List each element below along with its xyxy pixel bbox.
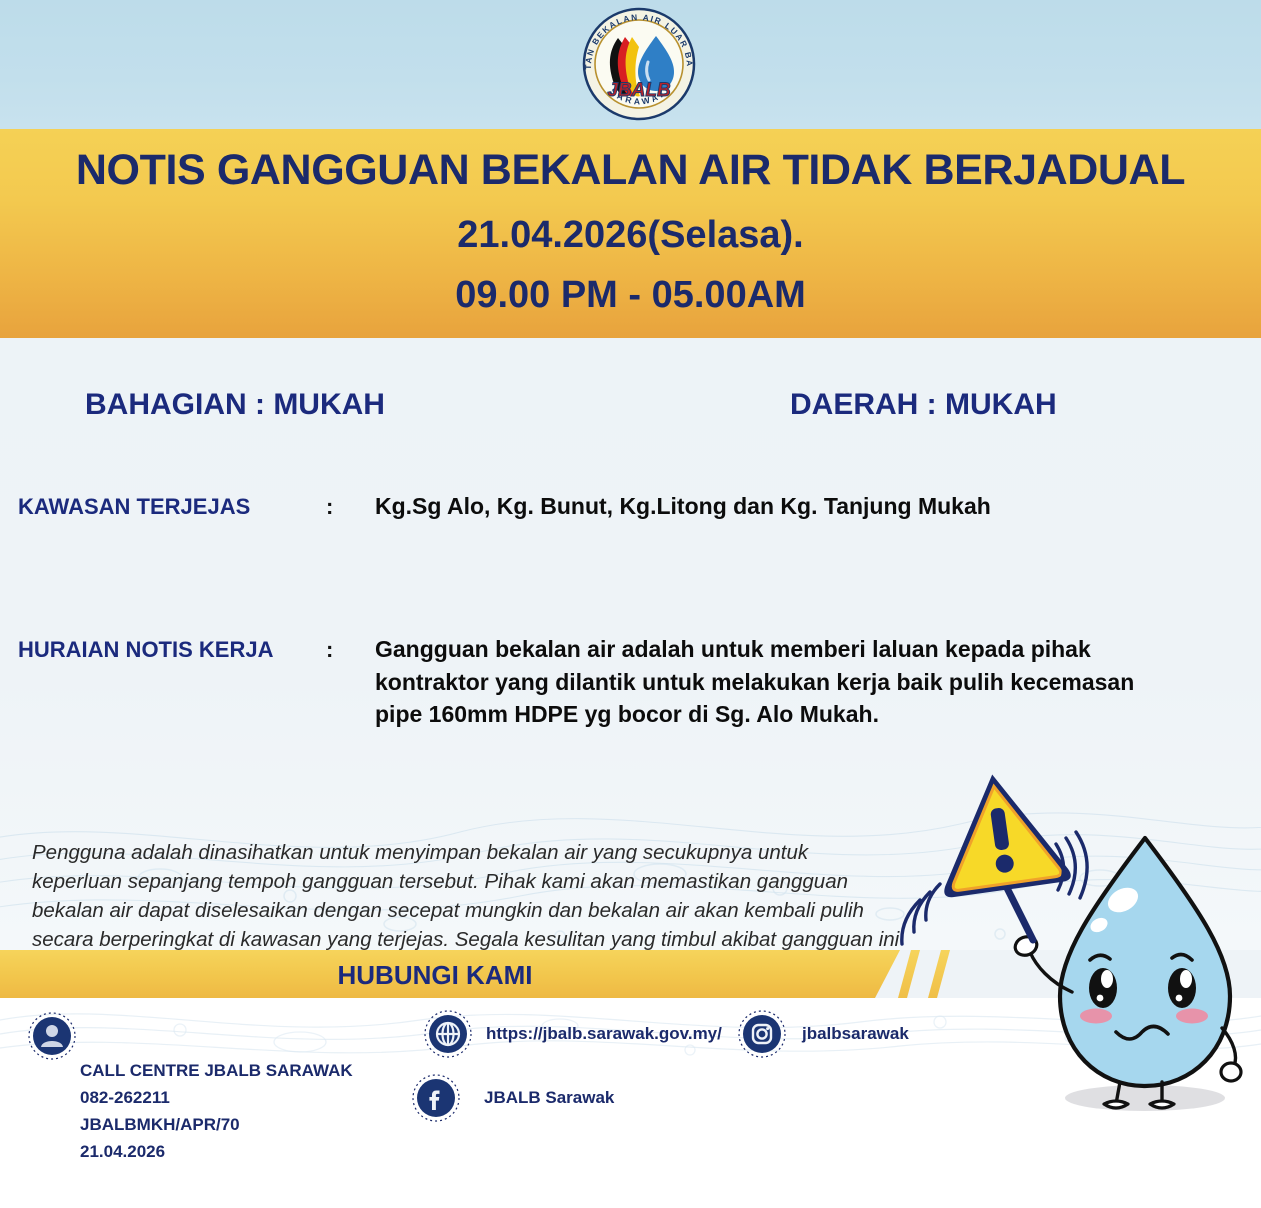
notice-reference: JBALBMKH/APR/70 xyxy=(80,1112,353,1139)
field-colon: : xyxy=(326,637,333,663)
instagram-icon xyxy=(738,1010,786,1058)
water-disruption-notice-poster: JABATAN BEKALAN AIR LUAR BANDAR SARAWAK … xyxy=(0,0,1261,1208)
call-centre-title: CALL CENTRE JBALB SARAWAK xyxy=(80,1058,353,1085)
contact-banner-title: HUBUNGI KAMI xyxy=(0,960,870,991)
contact-footer: CALL CENTRE JBALB SARAWAK 082-262211 JBA… xyxy=(0,998,1261,1208)
notice-issue-date: 21.04.2026 xyxy=(80,1139,353,1166)
notice-body: BAHAGIAN : MUKAH DAERAH : MUKAH KAWASAN … xyxy=(0,338,1261,950)
field-label: KAWASAN TERJEJAS xyxy=(18,494,250,520)
notice-title-line-1: NOTIS GANGGUAN BEKALAN AIR TIDAK BERJADU… xyxy=(0,129,1261,192)
advisory-paragraph: Pengguna adalah dinasihatkan untuk menyi… xyxy=(32,838,902,950)
contact-banner: HUBUNGI KAMI xyxy=(0,950,1261,998)
field-value: Kg.Sg Alo, Kg. Bunut, Kg.Litong dan Kg. … xyxy=(375,490,1165,523)
globe-icon xyxy=(424,1010,472,1058)
call-centre-details: CALL CENTRE JBALB SARAWAK 082-262211 JBA… xyxy=(80,1058,353,1165)
daerah-label: DAERAH : MUKAH xyxy=(790,388,1057,422)
location-row: BAHAGIAN : MUKAH DAERAH : MUKAH xyxy=(0,388,1261,428)
logo-center-text: JBALB xyxy=(607,80,671,101)
bahagian-label: BAHAGIAN : MUKAH xyxy=(85,388,385,422)
banner-slash-decoration xyxy=(898,950,920,998)
banner-slash-decoration xyxy=(928,950,950,998)
notice-time-range: 09.00 PM - 05.00AM xyxy=(0,254,1261,314)
facebook-icon xyxy=(412,1074,460,1122)
field-colon: : xyxy=(326,494,333,520)
person-icon xyxy=(28,1012,76,1060)
call-centre-phone: 082-262211 xyxy=(80,1085,353,1112)
jbalb-logo: JABATAN BEKALAN AIR LUAR BANDAR SARAWAK … xyxy=(578,4,700,122)
header-band: JABATAN BEKALAN AIR LUAR BANDAR SARAWAK … xyxy=(0,0,1261,129)
instagram-handle[interactable]: jbalbsarawak xyxy=(802,1024,909,1044)
facebook-handle[interactable]: JBALB Sarawak xyxy=(484,1088,614,1108)
field-label: HURAIAN NOTIS KERJA xyxy=(18,637,273,663)
field-value: Gangguan bekalan air adalah untuk member… xyxy=(375,633,1165,731)
website-url[interactable]: https://jbalb.sarawak.gov.my/ xyxy=(486,1024,722,1044)
title-banner: NOTIS GANGGUAN BEKALAN AIR TIDAK BERJADU… xyxy=(0,129,1261,338)
notice-date: 21.04.2026(Selasa). xyxy=(0,192,1261,254)
